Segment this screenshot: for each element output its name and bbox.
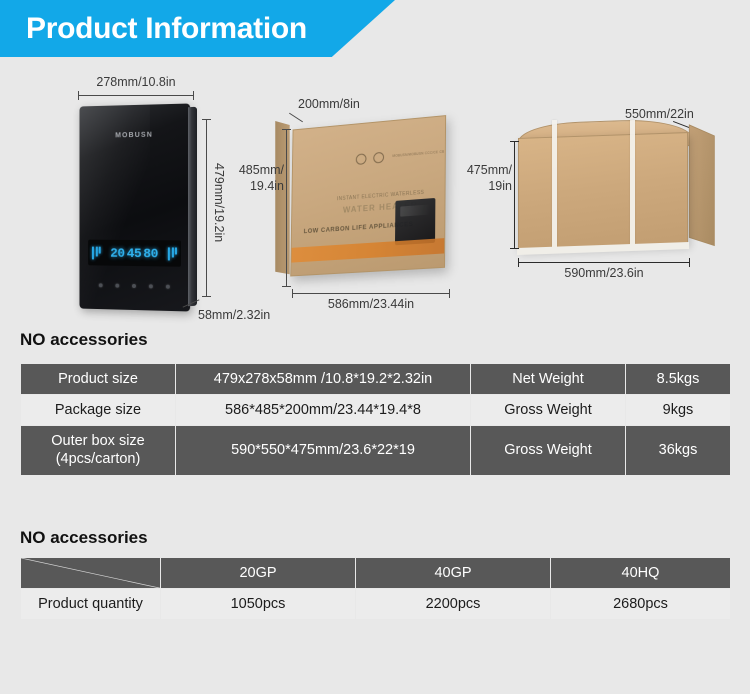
spec-label-outer-box-size: Outer box size (4pcs/carton) <box>21 426 176 475</box>
extra-touch-icon <box>166 285 170 289</box>
lcd-readout: 20 45 80 <box>110 245 158 261</box>
qty-value-40hq: 2680pcs <box>551 589 731 620</box>
table-row: Outer box size (4pcs/carton) 590*550*475… <box>21 426 731 475</box>
lcd-right-bars-icon <box>168 247 177 260</box>
outer-height-line-1: 475mm/ <box>467 163 512 177</box>
package-front-panel: MOBUSN/MOBUSN CCC/CE CB CE/CB INSTANT EL… <box>290 115 446 276</box>
loading-quantity-table: 20GP 40GP 40HQ Product quantity 1050pcs … <box>20 557 731 620</box>
lcd-left-bars-icon <box>92 246 101 259</box>
lcd-value-2: 45 <box>127 245 142 260</box>
package-height-label: 485mm/ 19.4in <box>222 163 284 194</box>
package-width-label: 586mm/23.44in <box>292 297 450 311</box>
outer-carton-side <box>689 124 715 246</box>
table-row: Package size 586*485*200mm/23.44*19.4*8 … <box>21 395 731 426</box>
spec-label-outer-line-1: Outer box size <box>25 432 171 450</box>
lcd-display: 20 45 80 <box>88 240 181 267</box>
outer-width-label: 590mm/23.6in <box>518 266 690 280</box>
lcd-value-1: 20 <box>110 245 125 260</box>
power-touch-icon <box>99 283 103 287</box>
lcd-value-3: 80 <box>143 246 158 261</box>
package-height-dimension-line <box>286 129 287 287</box>
unit-height-dimension-line <box>206 119 207 297</box>
qty-header-40hq: 40HQ <box>551 558 731 589</box>
spec-label-product-size: Product size <box>21 364 176 395</box>
section-heading-accessories-1: NO accessories <box>20 330 148 350</box>
carton-orange-stripe <box>291 238 444 263</box>
outer-carton-front <box>518 132 688 250</box>
specification-table: Product size 479x278x58mm /10.8*19.2*2.3… <box>20 363 731 476</box>
mode-touch-icon <box>132 284 136 288</box>
spec-weight-value-gross-package: 9kgs <box>626 395 731 426</box>
certification-text: MOBUSN/MOBUSN CCC/CE CB CE/CB <box>392 148 446 158</box>
product-information-page: Product Information 278mm/10.8in MOBUSN … <box>0 0 750 694</box>
section-heading-accessories-2: NO accessories <box>20 528 148 548</box>
spec-weight-label-net: Net Weight <box>471 364 626 395</box>
qty-value-40gp: 2200pcs <box>356 589 551 620</box>
package-depth-label: 200mm/8in <box>298 97 360 111</box>
unit-width-dimension-line <box>78 95 194 96</box>
unit-width-label: 278mm/10.8in <box>76 75 196 89</box>
water-heater-image: MOBUSN 20 45 80 <box>79 103 190 311</box>
qty-header-20gp: 20GP <box>161 558 356 589</box>
minus-touch-icon <box>115 284 119 288</box>
page-title: Product Information <box>0 12 307 46</box>
spec-weight-label-gross-package: Gross Weight <box>471 395 626 426</box>
spec-weight-value-gross-outer: 36kgs <box>626 426 731 475</box>
package-height-line-2: 19.4in <box>250 179 284 193</box>
table-row: Product quantity 1050pcs 2200pcs 2680pcs <box>21 589 731 620</box>
outer-height-label: 475mm/ 19in <box>454 163 512 194</box>
outer-width-dimension-line <box>518 262 690 263</box>
strapping-band-right <box>630 120 635 250</box>
spec-label-package-size: Package size <box>21 395 176 426</box>
spec-value-product-size: 479x278x58mm /10.8*19.2*2.32in <box>176 364 471 395</box>
ccc-certification-icon <box>355 153 366 165</box>
unit-side-edge <box>188 107 197 306</box>
brand-logo: MOBUSN <box>79 131 190 140</box>
table-header-row: 20GP 40GP 40HQ <box>21 558 731 589</box>
outer-height-line-2: 19in <box>488 179 512 193</box>
diagonal-corner-cell <box>21 558 161 589</box>
spec-value-package-size: 586*485*200mm/23.44*19.4*8 <box>176 395 471 426</box>
page-header-banner: Product Information <box>0 0 395 57</box>
qty-row-label: Product quantity <box>21 589 161 620</box>
package-side-panel <box>275 121 289 274</box>
package-carton-figure: 200mm/8in MOBUSN/MOBUSN CCC/CE CB CE/CB … <box>240 97 470 322</box>
outer-depth-label: 550mm/22in <box>625 107 694 121</box>
spec-weight-label-gross-outer: Gross Weight <box>471 426 626 475</box>
spec-value-outer-box-size: 590*550*475mm/23.6*22*19 <box>176 426 471 475</box>
package-depth-leader-line <box>289 113 303 123</box>
table-row: Product size 479x278x58mm /10.8*19.2*2.3… <box>21 364 731 395</box>
plus-touch-icon <box>149 284 153 288</box>
strapping-band-left <box>552 120 557 250</box>
outer-height-dimension-line <box>514 141 515 249</box>
package-height-line-1: 485mm/ <box>239 163 284 177</box>
spec-label-outer-line-2: (4pcs/carton) <box>25 450 171 468</box>
product-figures: 278mm/10.8in MOBUSN 20 45 80 <box>0 57 750 325</box>
qty-header-40gp: 40GP <box>356 558 551 589</box>
ce-certification-icon <box>373 151 384 163</box>
package-width-dimension-line <box>292 293 450 294</box>
certification-marks: MOBUSN/MOBUSN CCC/CE CB CE/CB <box>355 145 446 165</box>
outer-carton-figure: 550mm/22in 475mm/ 19in 590mm/23.6in <box>490 107 740 322</box>
qty-value-20gp: 1050pcs <box>161 589 356 620</box>
spec-weight-value-net: 8.5kgs <box>626 364 731 395</box>
